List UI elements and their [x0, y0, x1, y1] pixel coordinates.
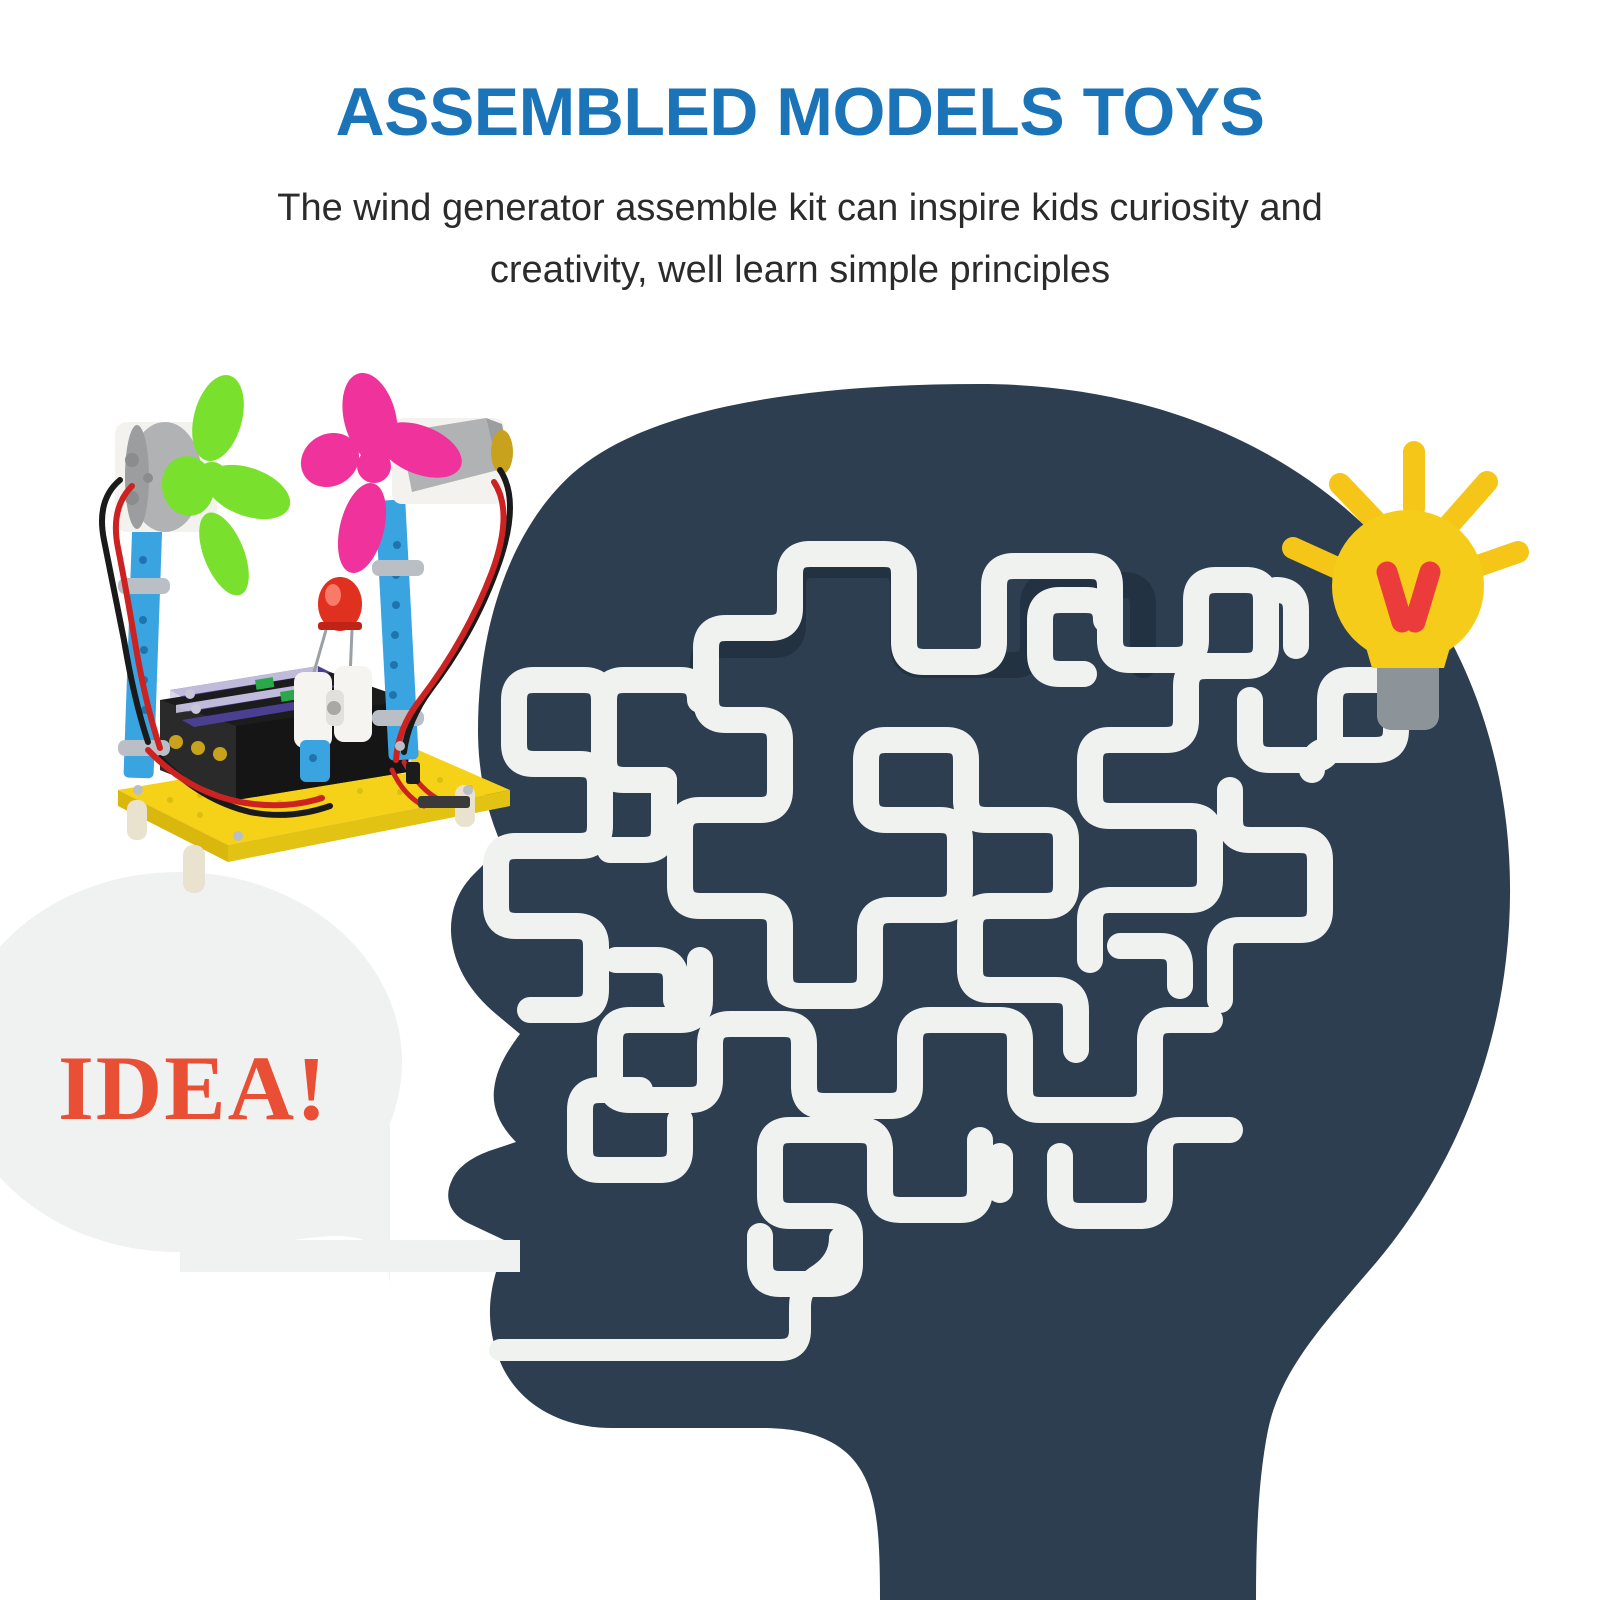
- fan-blades-green: [157, 369, 297, 602]
- product-photo: [0, 0, 1600, 1600]
- product-banner: ASSEMBLED MODELS TOYS The wind generator…: [0, 0, 1600, 1600]
